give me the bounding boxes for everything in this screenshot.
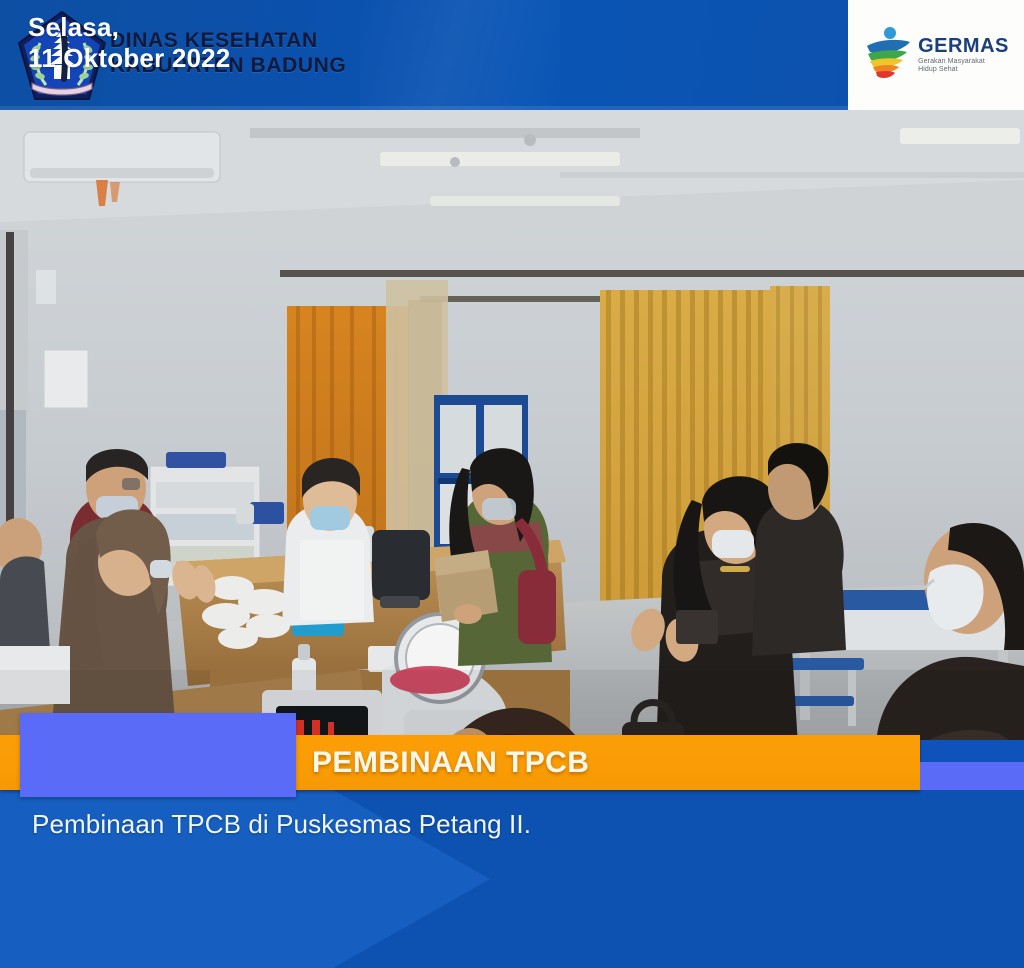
germas-figure-icon (863, 24, 913, 86)
germas-tagline-line1: Gerakan Masyarakat (918, 58, 1009, 67)
event-title: PEMBINAAN TPCB (312, 745, 589, 781)
germas-tagline-line2: Hidup Sehat (918, 66, 1009, 75)
germas-wordmark: GERMAS (918, 36, 1009, 56)
title-bar-right-accent (920, 762, 1024, 790)
meeting-photo (0, 110, 1024, 740)
date-line1: Selasa, (28, 12, 119, 42)
date-chip (20, 713, 296, 797)
poster: DINAS KESEHATAN KABUPATEN BADUNG G (0, 0, 1024, 968)
header-sheen (360, 0, 560, 110)
germas-panel: GERMAS Gerakan Masyarakat Hidup Sehat (848, 0, 1024, 110)
date-line2: 11 Oktober 2022 (28, 43, 230, 74)
germas-tagline: Gerakan Masyarakat Hidup Sehat (918, 58, 1009, 75)
date-text: Selasa, 11 Oktober 2022 (28, 12, 230, 74)
event-caption: Pembinaan TPCB di Puskesmas Petang II. (32, 808, 531, 840)
